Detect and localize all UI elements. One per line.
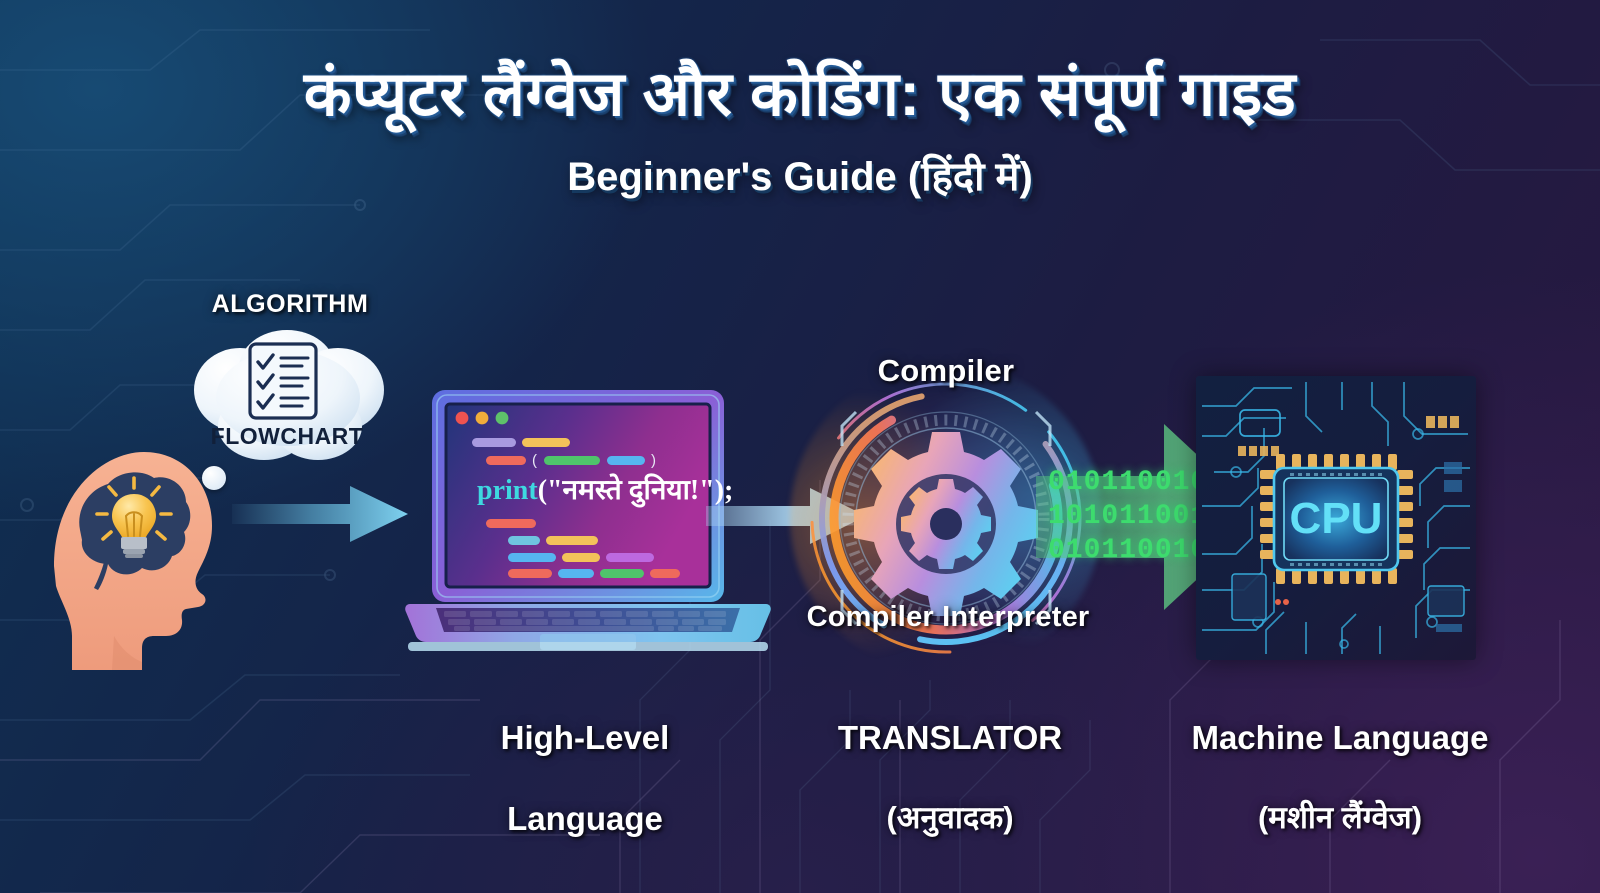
infographic-canvas: कंप्यूटर लैंग्वेज और कोडिंग: एक संपूर्ण … bbox=[0, 0, 1600, 893]
svg-text:print("नमस्ते दुनिया!");: print("नमस्ते दुनिया!"); bbox=[477, 473, 733, 508]
cpu-chip-label: CPU bbox=[1290, 494, 1383, 543]
head-brain-idea-icon bbox=[36, 440, 232, 670]
gear-icon bbox=[854, 432, 1038, 616]
caption-machine-line1: Machine Language bbox=[1140, 718, 1540, 758]
cpu-circuit-board: CPU bbox=[1196, 376, 1476, 660]
title-block: कंप्यूटर लैंग्वेज और कोडिंग: एक संपूर्ण … bbox=[0, 60, 1600, 202]
page-title: कंप्यूटर लैंग्वेज और कोडिंग: एक संपूर्ण … bbox=[0, 60, 1600, 131]
caption-hll-line1: High-Level bbox=[400, 718, 770, 758]
arrow-brain-to-laptop bbox=[232, 478, 408, 550]
caption-translator-line2: (अनुवादक) bbox=[770, 799, 1130, 837]
svg-text:): ) bbox=[651, 452, 656, 469]
compiler-top-label: Compiler bbox=[800, 352, 1092, 390]
caption-machine-line2: (मशीन लैंग्वेज) bbox=[1140, 799, 1540, 837]
caption-translator: TRANSLATOR (अनुवादक) bbox=[770, 678, 1130, 877]
svg-text:(: ( bbox=[532, 452, 537, 469]
caption-machine-language: Machine Language (मशीन लैंग्वेज) bbox=[1140, 678, 1540, 877]
caption-translator-line1: TRANSLATOR bbox=[770, 718, 1130, 758]
caption-high-level-language: High-Level Language bbox=[400, 678, 770, 879]
algorithm-label-en: ALGORITHM bbox=[160, 289, 420, 320]
checklist-document-icon bbox=[250, 344, 316, 418]
caption-hll-line2: Language bbox=[400, 799, 770, 839]
page-subtitle: Beginner's Guide (हिंदी में) bbox=[0, 147, 1600, 202]
